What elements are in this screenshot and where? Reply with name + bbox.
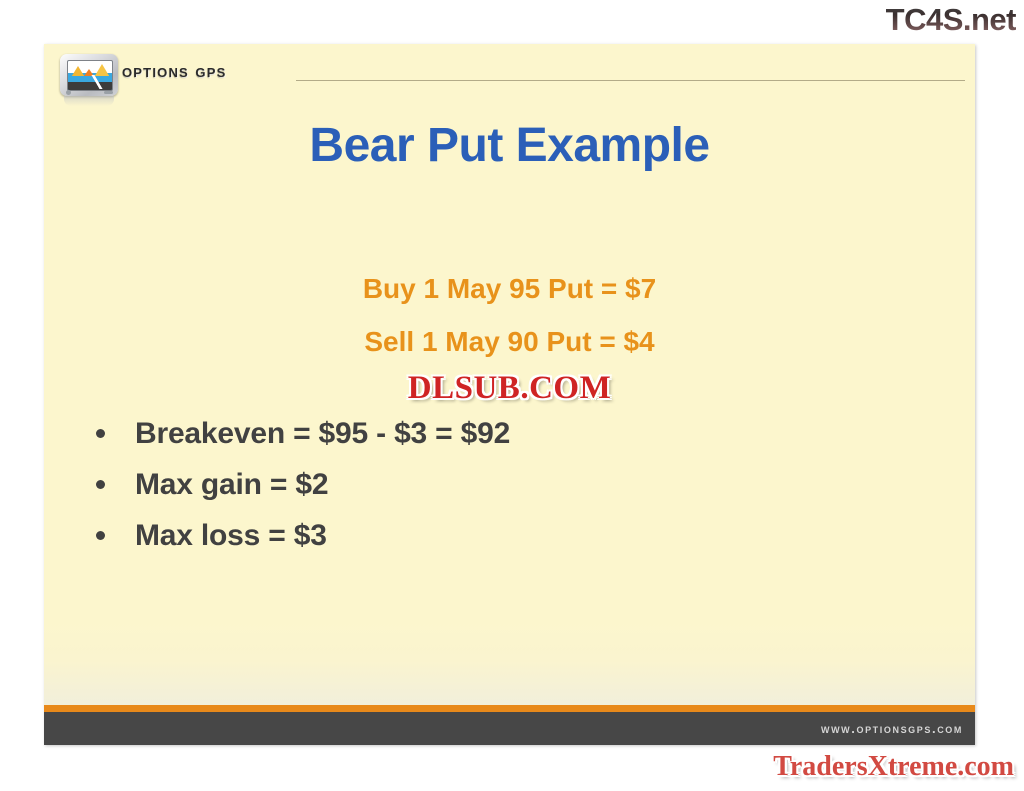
bullet-text-max-loss: Max loss = $3 bbox=[135, 519, 327, 553]
dlsub-watermark-text: DLSUB.COM bbox=[408, 370, 611, 406]
bullet-dot-icon bbox=[96, 480, 105, 489]
trade-line-sell: Sell 1 May 90 Put = $4 bbox=[44, 315, 975, 368]
logo-button-dot bbox=[66, 90, 71, 95]
logo-screen bbox=[67, 60, 113, 91]
slide: Options GPS Bear Put Example Buy 1 May 9… bbox=[44, 44, 975, 745]
tradersxtreme-watermark: TradersXtreme.com bbox=[773, 751, 1014, 783]
header-divider bbox=[296, 80, 965, 81]
slide-header: Options GPS bbox=[44, 44, 975, 100]
logo-button-bar bbox=[104, 91, 113, 94]
brand-wordmark: Options GPS bbox=[122, 61, 226, 83]
bullet-list: Breakeven = $95 - $3 = $92 Max gain = $2… bbox=[96, 417, 935, 570]
bullet-dot-icon bbox=[96, 429, 105, 438]
slide-footer: www.OptionsGPS.com bbox=[44, 712, 975, 745]
trade-line-buy: Buy 1 May 95 Put = $7 bbox=[44, 262, 975, 315]
footer-accent-bar bbox=[44, 705, 975, 712]
footer-url: www.OptionsGPS.com bbox=[821, 721, 963, 736]
list-item: Max gain = $2 bbox=[96, 468, 935, 519]
bullet-text-max-gain: Max gain = $2 bbox=[135, 468, 328, 502]
gps-device-icon bbox=[60, 54, 118, 98]
bullet-text-breakeven: Breakeven = $95 - $3 = $92 bbox=[135, 417, 510, 451]
page-title: Bear Put Example bbox=[44, 118, 975, 173]
trade-lines: Buy 1 May 95 Put = $7 Sell 1 May 90 Put … bbox=[44, 262, 975, 368]
list-item: Breakeven = $95 - $3 = $92 bbox=[96, 417, 935, 468]
list-item: Max loss = $3 bbox=[96, 519, 935, 570]
tc4s-watermark: TC4S.net bbox=[886, 2, 1016, 38]
bullet-dot-icon bbox=[96, 531, 105, 540]
dlsub-watermark: DLSUB.COM bbox=[44, 370, 975, 407]
logo-road bbox=[84, 75, 110, 89]
logo-reflection bbox=[64, 96, 114, 106]
